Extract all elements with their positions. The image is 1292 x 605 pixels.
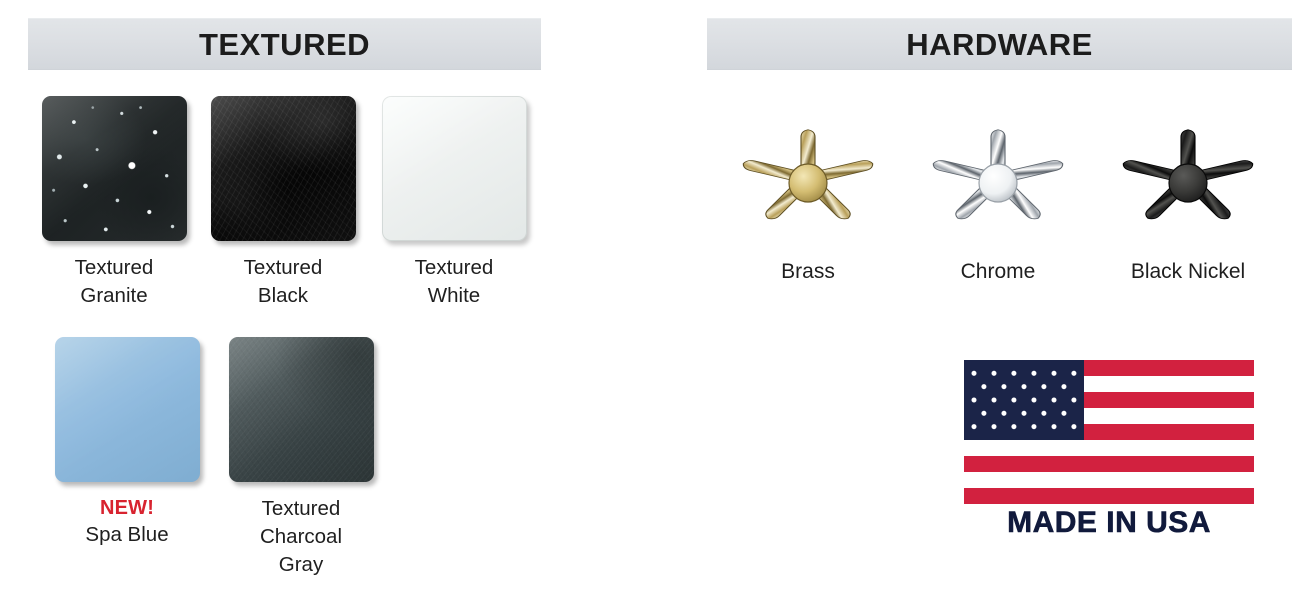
swatch-chip-spa-blue[interactable] bbox=[55, 337, 200, 482]
hardware-cell-brass[interactable]: Brass bbox=[710, 96, 906, 285]
hardware-section-title: HARDWARE bbox=[906, 29, 1093, 60]
five-spoke-star-handle-icon[interactable] bbox=[710, 96, 906, 246]
swatch-label-line: Textured bbox=[415, 256, 494, 279]
textured-swatch-row-2: NEW! Spa Blue Textured Charcoal Gray bbox=[0, 337, 646, 587]
flag-stripe bbox=[964, 456, 1254, 472]
five-spoke-star-handle-icon[interactable] bbox=[900, 96, 1096, 246]
hardware-label-chrome: Chrome bbox=[900, 258, 1096, 285]
swatch-chip-textured-granite[interactable] bbox=[42, 96, 187, 241]
hardware-cell-black-nickel[interactable]: Black Nickel bbox=[1090, 96, 1286, 285]
hardware-label-brass: Brass bbox=[710, 258, 906, 285]
swatch-cell-spa-blue[interactable]: NEW! Spa Blue bbox=[42, 337, 212, 549]
made-in-usa-badge: MADE IN USA bbox=[964, 360, 1254, 540]
textured-section-header: TEXTURED bbox=[28, 18, 541, 70]
swatch-label-line: Spa Blue bbox=[85, 523, 168, 546]
swatch-label-line: White bbox=[428, 284, 480, 307]
hardware-cell-chrome[interactable]: Chrome bbox=[900, 96, 1096, 285]
usa-flag-icon bbox=[964, 360, 1254, 504]
swatch-cell-textured-white[interactable]: Textured White bbox=[369, 96, 539, 310]
swatch-cell-textured-charcoal-gray[interactable]: Textured Charcoal Gray bbox=[216, 337, 386, 579]
five-spoke-star-handle-icon[interactable] bbox=[1090, 96, 1286, 246]
textured-panel: TEXTURED Textured Granite Textured Black… bbox=[0, 0, 646, 605]
textured-swatch-row-1: Textured Granite Textured Black Textured… bbox=[0, 96, 646, 311]
swatch-label-line: Textured bbox=[262, 497, 341, 520]
swatch-cell-textured-granite[interactable]: Textured Granite bbox=[29, 96, 199, 310]
swatch-label-line: Charcoal bbox=[260, 525, 342, 548]
hardware-section-header: HARDWARE bbox=[707, 18, 1292, 70]
swatch-label-textured-granite: Textured Granite bbox=[29, 254, 199, 310]
hardware-label-black-nickel: Black Nickel bbox=[1090, 258, 1286, 285]
swatch-label-line: Gray bbox=[279, 553, 323, 576]
swatch-label-line: Granite bbox=[80, 284, 147, 307]
textured-section-title: TEXTURED bbox=[199, 29, 370, 60]
swatch-cell-textured-black[interactable]: Textured Black bbox=[198, 96, 368, 310]
made-in-usa-text: MADE IN USA bbox=[964, 506, 1254, 540]
swatch-chip-textured-white[interactable] bbox=[382, 96, 527, 241]
swatch-chip-textured-black[interactable] bbox=[211, 96, 356, 241]
swatch-chip-textured-charcoal-gray[interactable] bbox=[229, 337, 374, 482]
swatch-label-line: Textured bbox=[75, 256, 154, 279]
new-badge: NEW! bbox=[42, 495, 212, 521]
swatch-label-line: Black bbox=[258, 284, 308, 307]
swatch-label-textured-white: Textured White bbox=[369, 254, 539, 310]
swatch-label-line: Textured bbox=[244, 256, 323, 279]
swatch-label-textured-charcoal-gray: Textured Charcoal Gray bbox=[216, 495, 386, 579]
flag-canton-stars bbox=[964, 360, 1084, 440]
swatch-label-spa-blue: NEW! Spa Blue bbox=[42, 495, 212, 549]
flag-stripe bbox=[964, 488, 1254, 504]
swatch-label-textured-black: Textured Black bbox=[198, 254, 368, 310]
